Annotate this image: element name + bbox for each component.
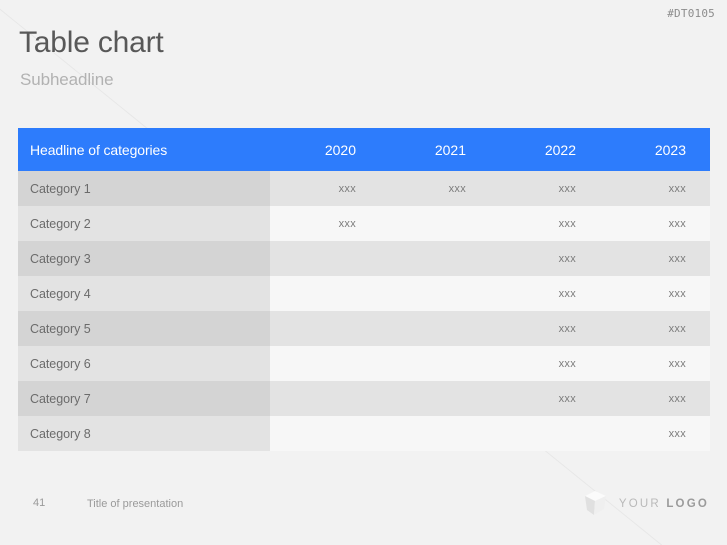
cube-icon [582, 490, 608, 517]
column-header-2022[interactable]: 2022 [490, 128, 600, 171]
value-cell-2022 [490, 416, 600, 451]
value-cell-2023: xxx [600, 206, 710, 241]
category-cell: Category 3 [18, 241, 270, 276]
value-cell-2021 [380, 416, 490, 451]
category-cell: Category 4 [18, 276, 270, 311]
value-cell-2022: xxx [490, 276, 600, 311]
category-cell: Category 7 [18, 381, 270, 416]
value-cell-2023: xxx [600, 276, 710, 311]
value-cell-2020 [270, 276, 380, 311]
table-row[interactable]: Category 7 xxx xxx [18, 381, 710, 416]
page-subtitle: Subheadline [20, 70, 113, 90]
value-cell-2021: xxx [380, 171, 490, 206]
logo-text-bold: LOGO [666, 498, 709, 510]
column-header-categories[interactable]: Headline of categories [18, 128, 270, 171]
category-cell: Category 5 [18, 311, 270, 346]
value-cell-2022: xxx [490, 206, 600, 241]
value-cell-2023: xxx [600, 171, 710, 206]
table-row[interactable]: Category 3 xxx xxx [18, 241, 710, 276]
value-cell-2021 [380, 346, 490, 381]
page-number: 41 [33, 497, 45, 509]
table-header-row: Headline of categories 2020 2021 2022 20… [18, 128, 710, 171]
value-cell-2021 [380, 276, 490, 311]
table-row[interactable]: Category 1 xxx xxx xxx xxx [18, 171, 710, 206]
column-header-2020[interactable]: 2020 [270, 128, 380, 171]
logo-text-light: YOUR [619, 498, 661, 510]
value-cell-2022: xxx [490, 311, 600, 346]
value-cell-2023: xxx [600, 381, 710, 416]
footer-presentation-title: Title of presentation [87, 498, 183, 510]
slide-canvas: #DT0105 Table chart Subheadline PRESENTA… [0, 0, 727, 545]
value-cell-2023: xxx [600, 416, 710, 451]
value-cell-2020 [270, 311, 380, 346]
value-cell-2022: xxx [490, 381, 600, 416]
table-header: Headline of categories 2020 2021 2022 20… [18, 128, 710, 171]
value-cell-2021 [380, 241, 490, 276]
value-cell-2023: xxx [600, 241, 710, 276]
document-code: #DT0105 [667, 7, 715, 20]
page-title: Table chart [19, 26, 164, 59]
logo-text: YOUR LOGO [619, 498, 709, 510]
category-cell: Category 1 [18, 171, 270, 206]
value-cell-2023: xxx [600, 346, 710, 381]
value-cell-2022: xxx [490, 346, 600, 381]
logo[interactable]: YOUR LOGO [582, 490, 709, 517]
table-row[interactable]: Category 6 xxx xxx [18, 346, 710, 381]
value-cell-2021 [380, 206, 490, 241]
table-row[interactable]: Category 8 xxx [18, 416, 710, 451]
column-header-2021[interactable]: 2021 [380, 128, 490, 171]
value-cell-2021 [380, 311, 490, 346]
value-cell-2022: xxx [490, 171, 600, 206]
data-table: Headline of categories 2020 2021 2022 20… [18, 128, 710, 451]
table-row[interactable]: Category 5 xxx xxx [18, 311, 710, 346]
table-row[interactable]: Category 4 xxx xxx [18, 276, 710, 311]
category-cell: Category 8 [18, 416, 270, 451]
value-cell-2020: xxx [270, 206, 380, 241]
value-cell-2020 [270, 381, 380, 416]
column-header-2023[interactable]: 2023 [600, 128, 710, 171]
value-cell-2020 [270, 346, 380, 381]
value-cell-2020 [270, 241, 380, 276]
value-cell-2020: xxx [270, 171, 380, 206]
table-row[interactable]: Category 2 xxx xxx xxx [18, 206, 710, 241]
table-body: Category 1 xxx xxx xxx xxx Category 2 xx… [18, 171, 710, 451]
value-cell-2020 [270, 416, 380, 451]
value-cell-2021 [380, 381, 490, 416]
category-cell: Category 6 [18, 346, 270, 381]
value-cell-2023: xxx [600, 311, 710, 346]
category-cell: Category 2 [18, 206, 270, 241]
value-cell-2022: xxx [490, 241, 600, 276]
